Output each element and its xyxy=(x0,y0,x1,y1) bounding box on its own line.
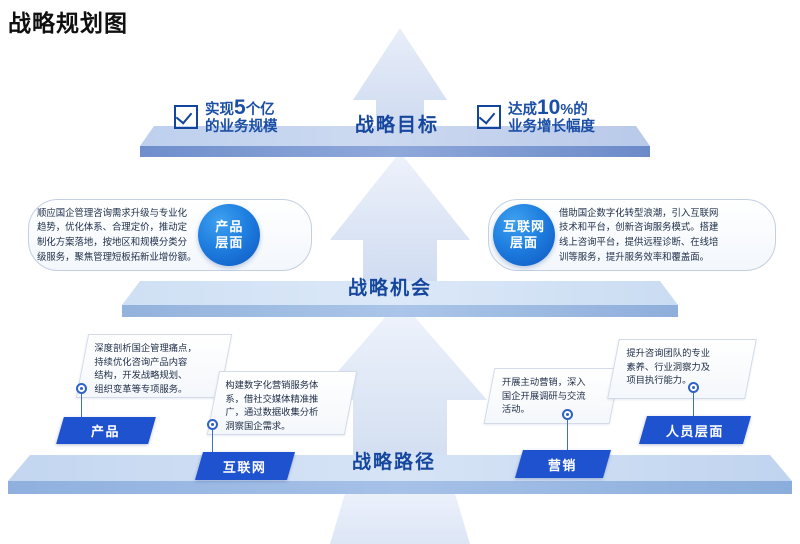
callout-internet-dot-icon xyxy=(207,419,218,430)
internet-layer-badge: 互联网 层面 xyxy=(493,204,555,266)
tag-marketing-label: 营销 xyxy=(548,455,577,474)
goal-growth-number: 10 xyxy=(537,96,560,119)
strategic-plan-diagram: 战略规划图 xyxy=(0,0,800,544)
callout-marketing-text: 开展主动营销，深入 国企开展调研与交流 活动。 xyxy=(490,369,614,424)
tag-internet-label: 互联网 xyxy=(223,457,267,476)
tag-marketing[interactable]: 营销 xyxy=(515,450,611,478)
callout-product: 深度剖析国企管理痛点， 持续优化咨询产品内容 结构，开发战略规划、 组织变革等专… xyxy=(76,334,232,398)
goal-item-growth: 达成10%的 业务增长幅度 xyxy=(477,98,595,136)
internet-badge-line2: 层面 xyxy=(510,235,538,251)
goal-scale-post: 个亿 xyxy=(246,102,275,118)
callout-product-dot-icon xyxy=(76,383,87,394)
callout-people-dot-icon xyxy=(688,382,699,393)
callout-marketing: 开展主动营销，深入 国企开展调研与交流 活动。 xyxy=(484,368,621,424)
path-band-title: 战略路径 xyxy=(352,447,436,474)
product-layer-text: 顺应国企管理咨询需求升级与专业化 趋势，优化体系、合理定价，推动定 制化方案落地… xyxy=(29,200,204,270)
goal-item-scale: 实现5个亿 的业务规模 xyxy=(174,98,278,136)
callout-people-text: 提升咨询团队的专业 素养、行业洞察力及 项目执行能力。 xyxy=(614,340,750,395)
tag-product[interactable]: 产品 xyxy=(56,417,156,444)
product-layer-card: 顺应国企管理咨询需求升级与专业化 趋势，优化体系、合理定价，推动定 制化方案落地… xyxy=(28,199,312,271)
tag-people[interactable]: 人员层面 xyxy=(639,416,751,444)
product-layer-badge: 产品 层面 xyxy=(198,204,260,266)
goal-band-title: 战略目标 xyxy=(355,110,439,137)
callout-product-text: 深度剖析国企管理痛点， 持续优化咨询产品内容 结构，开发战略规划、 组织变革等专… xyxy=(82,335,224,403)
callout-people: 提升咨询团队的专业 素养、行业洞察力及 项目执行能力。 xyxy=(607,339,757,399)
goal-scale-line2: 的业务规模 xyxy=(205,119,278,136)
callout-marketing-dot-icon xyxy=(562,409,573,420)
goal-growth-post: %的 xyxy=(560,102,587,118)
tag-product-label: 产品 xyxy=(91,421,120,440)
opportunity-band-title: 战略机会 xyxy=(348,273,432,300)
internet-layer-card: 互联网 层面 借助国企数字化转型浪潮，引入互联网 技术和平台，创新咨询服务模式。… xyxy=(488,199,776,271)
checkbox-checked-icon xyxy=(477,105,501,129)
product-badge-line2: 层面 xyxy=(215,235,243,251)
internet-layer-text: 借助国企数字化转型浪潮，引入互联网 技术和平台，创新咨询服务模式。搭建 线上咨询… xyxy=(551,200,726,270)
checkbox-checked-icon xyxy=(174,105,198,129)
callout-internet: 构建数字化营销服务体 系，借社交媒体精准推 广，通过数据收集分析 洞察国企需求。 xyxy=(207,371,357,435)
callout-internet-text: 构建数字化营销服务体 系，借社交媒体精准推 广，通过数据收集分析 洞察国企需求。 xyxy=(213,372,349,440)
callout-people-connector xyxy=(693,393,694,418)
callout-product-connector xyxy=(81,394,82,419)
tag-people-label: 人员层面 xyxy=(666,421,724,440)
tag-internet[interactable]: 互联网 xyxy=(195,452,295,480)
goal-growth-pre: 达成 xyxy=(508,102,537,118)
internet-badge-line1: 互联网 xyxy=(503,219,545,235)
callout-marketing-connector xyxy=(567,420,568,452)
callout-internet-connector xyxy=(212,430,213,454)
goal-growth-line2: 业务增长幅度 xyxy=(508,119,595,136)
goal-scale-pre: 实现 xyxy=(205,102,234,118)
goal-scale-number: 5 xyxy=(234,96,246,119)
product-badge-line1: 产品 xyxy=(215,219,243,235)
